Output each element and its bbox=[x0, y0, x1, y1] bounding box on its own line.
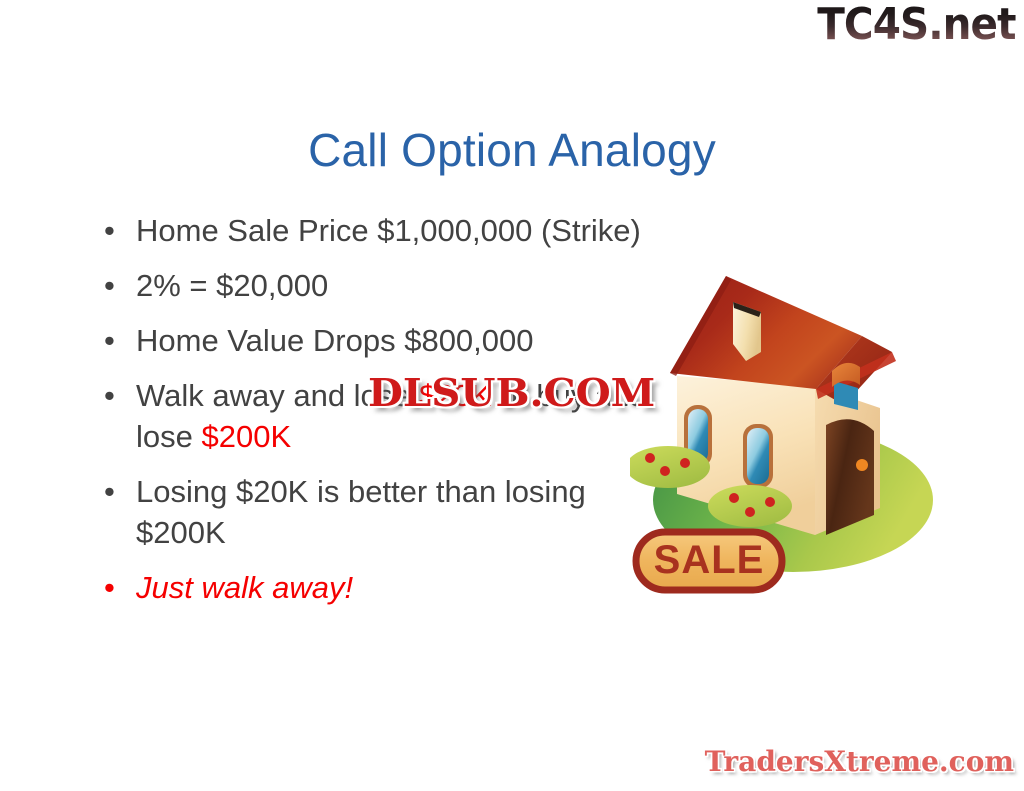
bullet-text: Losing $20K is better than losing $200K bbox=[136, 474, 586, 550]
door-knob bbox=[856, 459, 868, 471]
page-title: Call Option Analogy bbox=[0, 122, 1024, 178]
house-for-sale-illustration: SALE bbox=[630, 258, 960, 598]
text-run: Just walk away! bbox=[136, 570, 353, 605]
front-door bbox=[826, 419, 874, 535]
berry bbox=[645, 453, 655, 463]
text-run: Home Value Drops $800,000 bbox=[136, 323, 534, 358]
bullet-text: Just walk away! bbox=[136, 570, 353, 605]
watermark-tc4s: TC4S.net bbox=[818, 0, 1016, 50]
bullet-list: •Home Sale Price $1,000,000 (Strike)•2% … bbox=[96, 210, 656, 622]
berry bbox=[745, 507, 755, 517]
bullet-just-walk-away: •Just walk away! bbox=[96, 567, 656, 608]
watermark-tradersxtreme: TradersXtreme.com bbox=[705, 745, 1014, 779]
sale-badge-label: SALE bbox=[654, 538, 765, 582]
bullet-marker: • bbox=[104, 567, 115, 608]
window-right bbox=[747, 428, 769, 484]
berry bbox=[729, 493, 739, 503]
bullet-home-sale-price: •Home Sale Price $1,000,000 (Strike) bbox=[96, 210, 656, 251]
slide-canvas: TC4S.net Call Option Analogy •Home Sale … bbox=[0, 0, 1024, 791]
berry bbox=[660, 466, 670, 476]
bush-right bbox=[708, 485, 792, 527]
bullet-two-percent: •2% = $20,000 bbox=[96, 265, 656, 306]
text-run: $200K bbox=[201, 419, 291, 454]
bullet-marker: • bbox=[104, 471, 115, 512]
watermark-dlsub: DLSUB.COM bbox=[368, 371, 655, 415]
text-run: Home Sale Price $1,000,000 (Strike) bbox=[136, 213, 641, 248]
berry bbox=[765, 497, 775, 507]
bullet-marker: • bbox=[104, 265, 115, 306]
bullet-marker: • bbox=[104, 375, 115, 416]
bullet-marker: • bbox=[104, 320, 115, 361]
bullet-text: Home Value Drops $800,000 bbox=[136, 323, 534, 358]
bullet-text: Home Sale Price $1,000,000 (Strike) bbox=[136, 213, 641, 248]
bullet-text: 2% = $20,000 bbox=[136, 268, 328, 303]
text-run: 2% = $20,000 bbox=[136, 268, 328, 303]
bullet-marker: • bbox=[104, 210, 115, 251]
berry bbox=[680, 458, 690, 468]
text-run: Losing $20K is better than losing $200K bbox=[136, 474, 586, 550]
bullet-home-value-drops: •Home Value Drops $800,000 bbox=[96, 320, 656, 361]
bullet-losing-comparison: •Losing $20K is better than losing $200K bbox=[96, 471, 656, 553]
house-illustration-svg: SALE bbox=[630, 258, 960, 598]
